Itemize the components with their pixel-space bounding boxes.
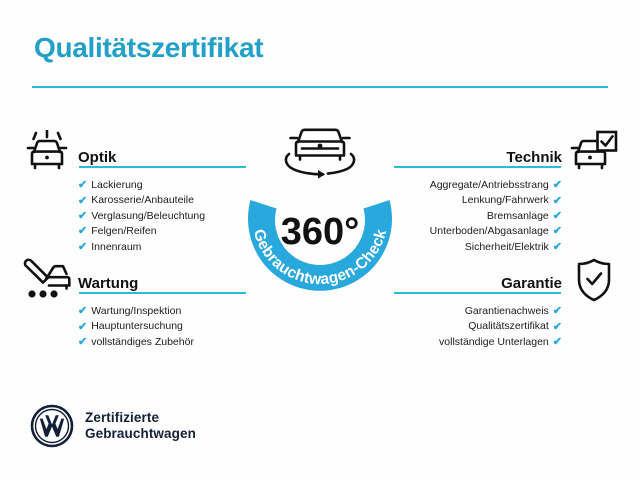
section-divider xyxy=(394,166,561,168)
vw-brand-text: Zertifizierte Gebrauchtwagen xyxy=(85,410,196,442)
check-icon: ✔ xyxy=(553,211,562,222)
check-icon: ✔ xyxy=(78,180,87,191)
section-title-technik: Technik xyxy=(506,149,562,166)
check-icon: ✔ xyxy=(78,211,87,222)
list-item-label: Felgen/Reifen xyxy=(91,224,156,239)
list-item-label: Garantienachweis xyxy=(465,304,549,319)
list-item-label: Karosserie/Anbauteile xyxy=(91,193,194,208)
check-icon: ✔ xyxy=(78,322,87,333)
shield-check-icon xyxy=(576,258,612,307)
section-wartung: Wartung ✔ Wartung/Inspektion ✔ Hauptunte… xyxy=(78,268,246,350)
check-icon: ✔ xyxy=(553,322,562,333)
section-divider xyxy=(394,292,561,294)
list-item-label: Verglasung/Beleuchtung xyxy=(91,209,205,224)
list-item-label: Lenkung/Fahrwerk xyxy=(462,193,549,208)
list-item: ✔ vollständiges Zubehör xyxy=(78,335,246,350)
section-title-wartung: Wartung xyxy=(78,275,138,292)
section-header: Technik xyxy=(394,142,562,168)
list-item: Qualitätszertifikat ✔ xyxy=(394,319,562,334)
list-item-label: Hauptuntersuchung xyxy=(91,319,183,334)
check-icon: ✔ xyxy=(78,306,87,317)
list-item-label: Innenraum xyxy=(91,240,141,255)
car-shine-icon xyxy=(24,130,70,179)
list-item: ✔ Felgen/Reifen xyxy=(78,224,246,239)
check-icon: ✔ xyxy=(553,242,562,253)
car-wrench-icon xyxy=(22,256,72,309)
list-item: ✔ Verglasung/Beleuchtung xyxy=(78,209,246,224)
checklist-technik: Aggregate/Antriebsstrang ✔ Lenkung/Fahrw… xyxy=(394,178,562,255)
section-title-garantie: Garantie xyxy=(501,275,562,292)
vw-brand-line-2: Gebrauchtwagen xyxy=(85,426,196,442)
vw-brand-footer: Zertifizierte Gebrauchtwagen xyxy=(30,404,196,448)
car-checkbox-icon xyxy=(570,130,618,179)
car-rotate-icon xyxy=(286,130,354,179)
list-item-label: Lackierung xyxy=(91,178,142,193)
vw-brand-line-1: Zertifizierte xyxy=(85,410,196,426)
title-divider xyxy=(32,86,608,88)
list-item: ✔ Wartung/Inspektion xyxy=(78,304,246,319)
checklist-optik: ✔ Lackierung ✔ Karosserie/Anbauteile ✔ V… xyxy=(78,178,246,255)
check-icon: ✔ xyxy=(78,242,87,253)
check-icon: ✔ xyxy=(78,196,87,207)
list-item: Aggregate/Antriebsstrang ✔ xyxy=(394,178,562,193)
list-item: ✔ Karosserie/Anbauteile xyxy=(78,193,246,208)
list-item: ✔ Hauptuntersuchung xyxy=(78,319,246,334)
section-optik: Optik ✔ Lackierung ✔ Karosserie/Anbautei… xyxy=(78,142,246,255)
check-icon: ✔ xyxy=(553,196,562,207)
check-icon: ✔ xyxy=(553,337,562,348)
list-item: Garantienachweis ✔ xyxy=(394,304,562,319)
list-item: ✔ Lackierung xyxy=(78,178,246,193)
section-technik: Technik Aggregate/Antriebsstrang ✔ Lenku… xyxy=(394,142,562,255)
vw-logo xyxy=(30,404,74,448)
check-icon: ✔ xyxy=(553,306,562,317)
certificate-page: Qualitätszertifikat xyxy=(0,0,640,480)
section-divider xyxy=(79,292,246,294)
check-icon: ✔ xyxy=(553,226,562,237)
page-title: Qualitätszertifikat xyxy=(34,32,263,64)
section-title-optik: Optik xyxy=(78,149,116,166)
badge-360-gebrauchtwagen-check: 360° Gebrauchtwagen-Check xyxy=(232,116,408,316)
list-item: Bremsanlage ✔ xyxy=(394,209,562,224)
section-header: Garantie xyxy=(394,268,562,294)
list-item-label: Qualitätszertifikat xyxy=(468,319,549,334)
checklist-wartung: ✔ Wartung/Inspektion ✔ Hauptuntersuchung… xyxy=(78,304,246,350)
section-header: Wartung xyxy=(78,268,246,294)
list-item-label: Bremsanlage xyxy=(487,209,549,224)
list-item: Lenkung/Fahrwerk ✔ xyxy=(394,193,562,208)
list-item-label: Aggregate/Antriebsstrang xyxy=(430,178,549,193)
section-header: Optik xyxy=(78,142,246,168)
list-item-label: Wartung/Inspektion xyxy=(91,304,181,319)
section-garantie: Garantie Garantienachweis ✔ Qualitätszer… xyxy=(394,268,562,350)
list-item-label: vollständige Unterlagen xyxy=(439,335,549,350)
list-item-label: vollständiges Zubehör xyxy=(91,335,194,350)
list-item: Sicherheit/Elektrik ✔ xyxy=(394,240,562,255)
section-divider xyxy=(79,166,246,168)
checklist-garantie: Garantienachweis ✔ Qualitätszertifikat ✔… xyxy=(394,304,562,350)
badge-degrees: 360° xyxy=(281,211,360,253)
list-item: vollständige Unterlagen ✔ xyxy=(394,335,562,350)
list-item-label: Sicherheit/Elektrik xyxy=(465,240,549,255)
list-item: ✔ Innenraum xyxy=(78,240,246,255)
list-item: Unterboden/Abgasanlage ✔ xyxy=(394,224,562,239)
check-icon: ✔ xyxy=(553,180,562,191)
check-icon: ✔ xyxy=(78,226,87,237)
check-icon: ✔ xyxy=(78,337,87,348)
list-item-label: Unterboden/Abgasanlage xyxy=(430,224,549,239)
